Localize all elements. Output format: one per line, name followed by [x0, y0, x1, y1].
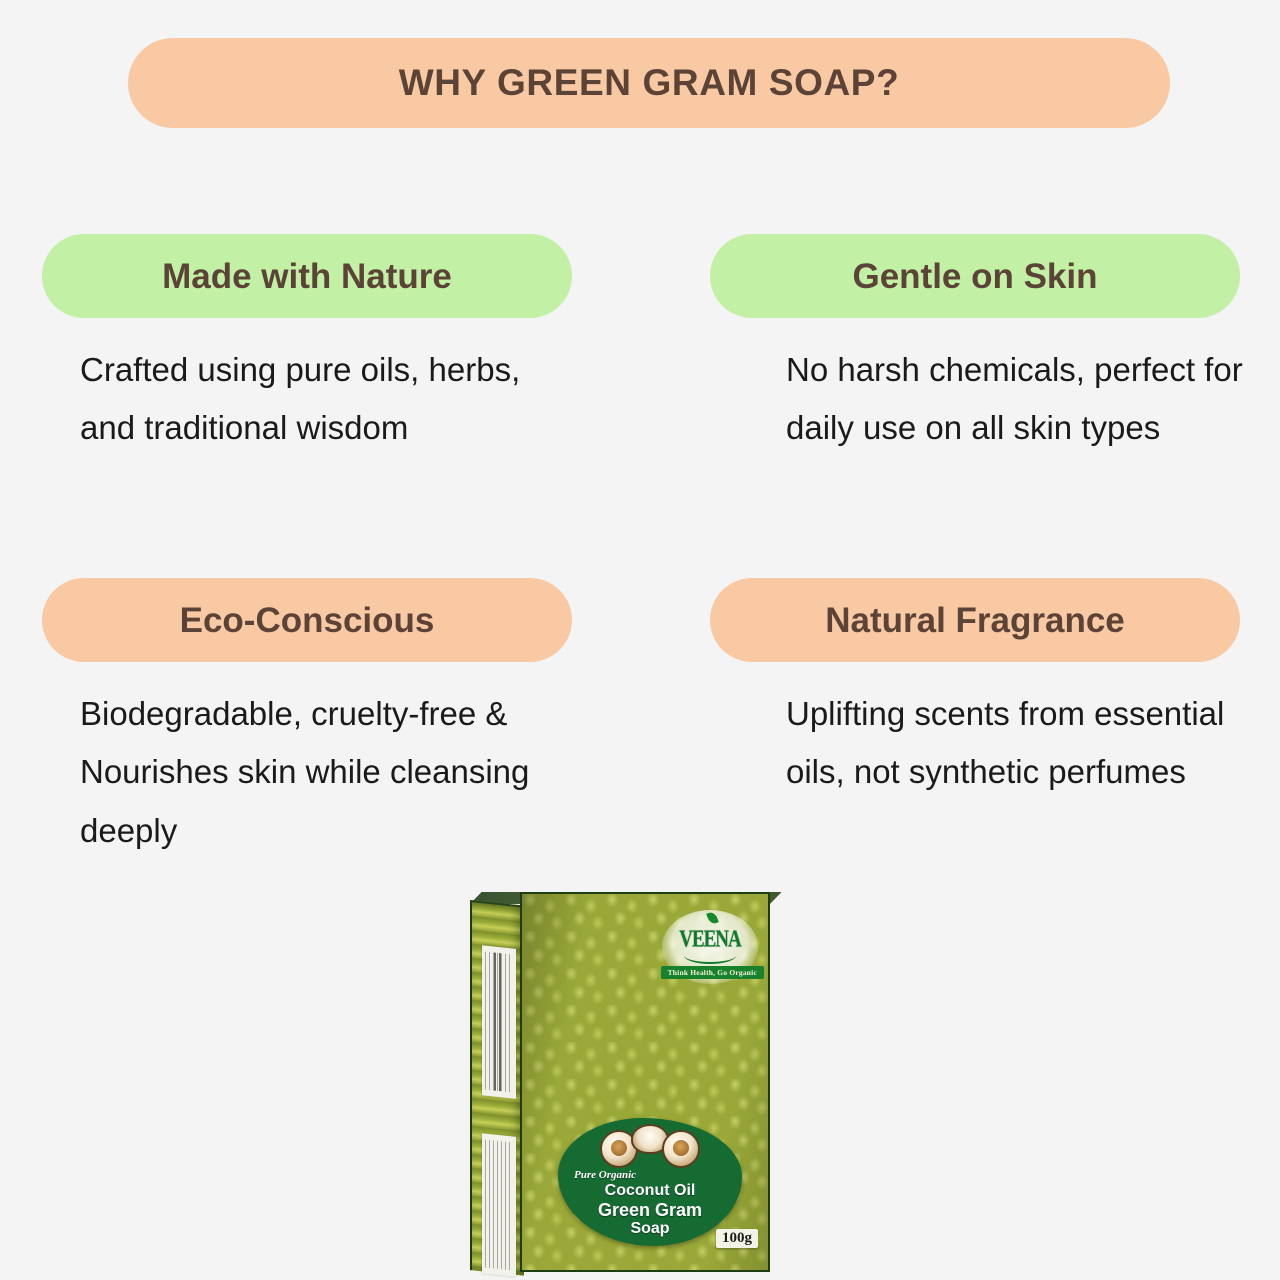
- product-image: VEENA Think Health, Go Organic Pure Orga…: [462, 892, 782, 1280]
- feature-grid: Made with Nature Crafted using pure oils…: [0, 234, 1280, 922]
- leaf-icon: [706, 911, 719, 925]
- feature-card-made-with-nature: Made with Nature Crafted using pure oils…: [42, 234, 572, 458]
- feature-card-natural-fragrance: Natural Fragrance Uplifting scents from …: [710, 578, 1240, 802]
- brand-tagline: Think Health, Go Organic: [661, 966, 764, 979]
- weight-badge: 100g: [716, 1229, 758, 1248]
- feature-title-made-with-nature: Made with Nature: [162, 259, 452, 294]
- feature-description-natural-fragrance: Uplifting scents from essential oils, no…: [710, 685, 1270, 802]
- feature-description-made-with-nature: Crafted using pure oils, herbs, and trad…: [42, 341, 572, 458]
- box-side-panel: [470, 900, 524, 1276]
- feature-pill-natural-fragrance[interactable]: Natural Fragrance: [710, 578, 1240, 662]
- box-front-face: VEENA Think Health, Go Organic Pure Orga…: [520, 892, 770, 1272]
- feature-pill-eco-conscious[interactable]: Eco-Conscious: [42, 578, 572, 662]
- label-soap: Soap: [630, 1221, 669, 1238]
- label-pure-organic: Pure Organic: [574, 1170, 636, 1182]
- feature-description-gentle-on-skin: No harsh chemicals, perfect for daily us…: [710, 341, 1270, 458]
- feature-description-eco-conscious: Biodegradable, cruelty-free & Nourishes …: [42, 685, 572, 860]
- brand-name-text: VEENA: [679, 928, 741, 952]
- feature-title-gentle-on-skin: Gentle on Skin: [852, 259, 1097, 294]
- feature-title-natural-fragrance: Natural Fragrance: [825, 603, 1125, 638]
- coconut-right-icon: [662, 1130, 700, 1168]
- side-panel-text-lines-lower: [485, 1140, 513, 1271]
- coconut-illustration: [598, 1124, 702, 1170]
- side-panel-heading-line: [494, 953, 501, 1092]
- page-title: WHY GREEN GRAM SOAP?: [399, 62, 900, 104]
- feature-row-top: Made with Nature Crafted using pure oils…: [0, 234, 1280, 578]
- feature-title-eco-conscious: Eco-Conscious: [180, 603, 435, 638]
- feature-row-bottom: Eco-Conscious Biodegradable, cruelty-fre…: [0, 578, 1280, 922]
- feature-pill-made-with-nature[interactable]: Made with Nature: [42, 234, 572, 318]
- label-green-gram: Green Gram: [598, 1201, 702, 1220]
- header-banner: WHY GREEN GRAM SOAP?: [128, 38, 1170, 128]
- feature-card-gentle-on-skin: Gentle on Skin No harsh chemicals, perfe…: [710, 234, 1240, 458]
- coconut-left-inner: [611, 1140, 627, 1156]
- feature-pill-gentle-on-skin[interactable]: Gentle on Skin: [710, 234, 1240, 318]
- side-panel-label-upper: [482, 945, 516, 1099]
- product-box: VEENA Think Health, Go Organic Pure Orga…: [462, 892, 772, 1272]
- side-panel-label-lower: [482, 1133, 516, 1277]
- label-coconut-oil: Coconut Oil: [605, 1183, 696, 1200]
- coconut-right-inner: [673, 1140, 689, 1156]
- feature-card-eco-conscious: Eco-Conscious Biodegradable, cruelty-fre…: [42, 578, 572, 860]
